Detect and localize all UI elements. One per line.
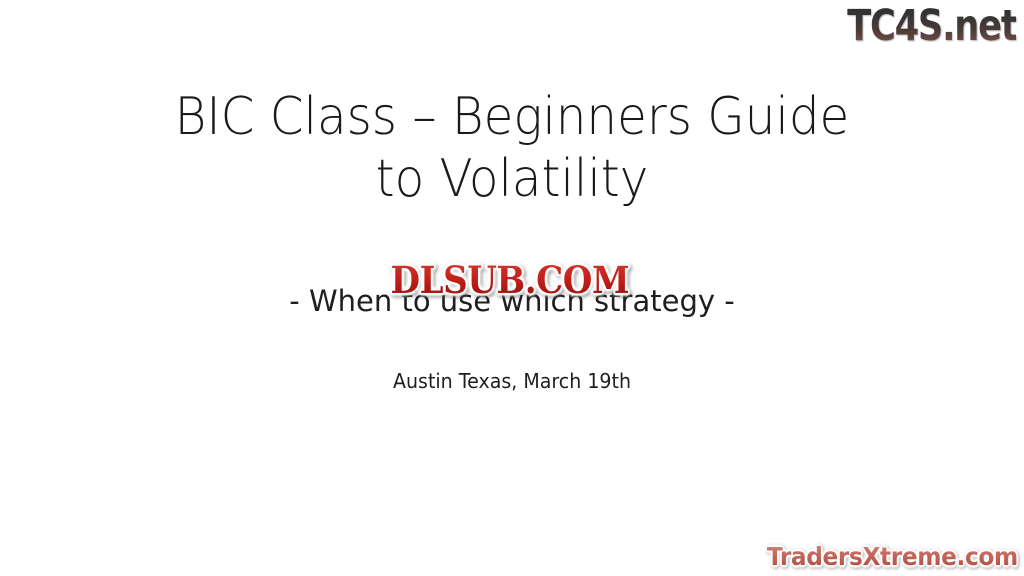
presentation-slide: TC4S.net BIC Class – Beginners Guide to … (0, 0, 1024, 576)
title-line-1: BIC Class – Beginners Guide (36, 86, 988, 148)
page-title: BIC Class – Beginners Guide to Volatilit… (0, 86, 1024, 210)
tc4s-logo: TC4S.net (847, 2, 1016, 50)
tradersxtreme-logo: TradersXtreme.com (767, 542, 1018, 572)
subtitle-row: - When to use which strategy - (0, 284, 1024, 318)
title-line-2: to Volatility (36, 148, 988, 210)
location-date-text: Austin Texas, March 19th (26, 368, 999, 394)
subtitle-text: - When to use which strategy - (289, 284, 734, 318)
